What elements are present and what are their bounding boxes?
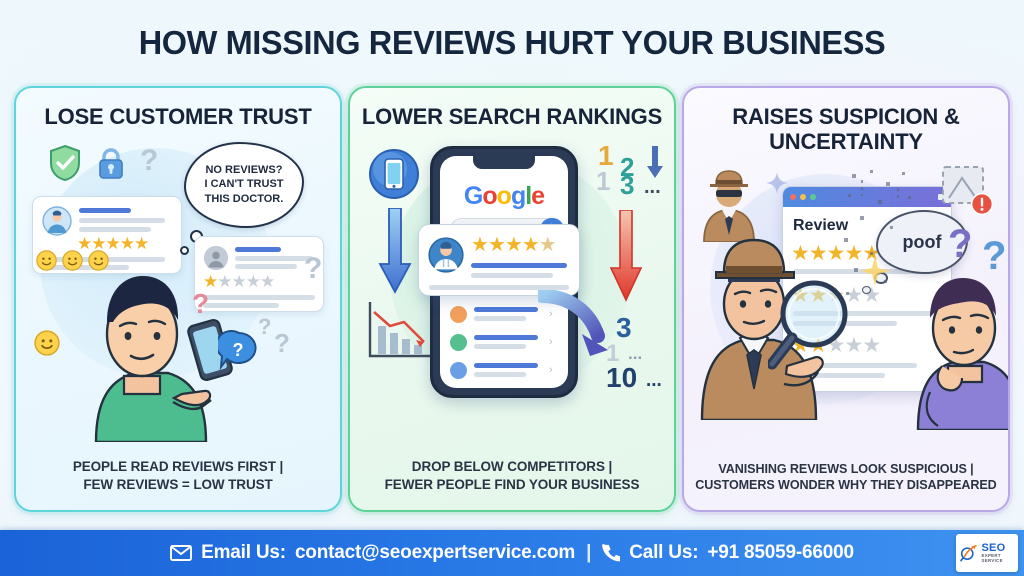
- thought-bubble: NO REVIEWS? I CAN'T TRUST THIS DOCTOR.: [184, 142, 304, 228]
- rank-number-10: 10: [606, 362, 637, 394]
- panel-footer-text: PEOPLE READ REVIEWS FIRST | FEW REVIEWS …: [16, 458, 340, 510]
- google-letter-e: e: [531, 182, 544, 210]
- phone-icon: [602, 544, 620, 562]
- panel-raises-suspicion: RAISES SUSPICION & UNCERTAINTY: [682, 86, 1010, 512]
- rank-ellipsis-mid: ...: [628, 344, 642, 364]
- google-letter-o1: o: [482, 182, 496, 210]
- window-minimize-dot[interactable]: [800, 194, 806, 200]
- contact-info: Email Us: contact@seoexpertservice.com |…: [170, 542, 854, 564]
- google-letter-G: G: [464, 182, 482, 210]
- thought-line-1: NO REVIEWS?: [205, 163, 284, 178]
- panel-footer-line-2: FEWER PEOPLE FIND YOUR BUSINESS: [358, 476, 666, 494]
- panel-lose-customer-trust: LOSE CUSTOMER TRUST ?: [14, 86, 342, 512]
- rank-numbers-top: 1 2 1 3 ...: [596, 140, 676, 206]
- panel-footer-line-2: CUSTOMERS WONDER WHY THEY DISAPPEARED: [692, 477, 1000, 494]
- panel-footer-text: VANISHING REVIEWS LOOK SUSPICIOUS | CUST…: [684, 461, 1008, 510]
- rank-number-3: 3: [620, 170, 634, 201]
- envelope-icon: [170, 545, 192, 561]
- company-logo[interactable]: SEO EXPERT SERVICE: [956, 534, 1018, 572]
- question-mark-bubble-icon: ?: [218, 330, 260, 372]
- email-value[interactable]: contact@seoexpertservice.com: [295, 542, 575, 564]
- panel-illustration: Review ★★★★★ ★★★★★ ★★★★★: [690, 158, 1002, 461]
- panel-lower-search-rankings: LOWER SEARCH RANKINGS: [348, 86, 676, 512]
- question-mark-icon: ?: [140, 146, 158, 176]
- alert-badge-icon: [970, 192, 994, 216]
- red-down-arrow-icon: [608, 210, 644, 302]
- email-label: Email Us:: [201, 542, 286, 564]
- logo-text: SEO EXPERT SERVICE: [982, 543, 1015, 563]
- contact-footer-bar: Email Us: contact@seoexpertservice.com |…: [0, 530, 1024, 576]
- magnifying-glass-icon: [768, 276, 864, 376]
- question-mark-icon: ?: [258, 316, 271, 338]
- rank-numbers-bottom: 3 1 ... 10 ...: [606, 312, 676, 382]
- question-mark-icon: ?: [948, 222, 972, 267]
- question-mark-icon: ?: [304, 254, 322, 284]
- rank-number-1-faded: 1: [596, 166, 610, 197]
- magnifier-arrow-logo-icon: [960, 541, 979, 565]
- thought-line-2: I CAN'T TRUST: [205, 177, 284, 192]
- phone-label: Call Us:: [629, 542, 698, 564]
- panel-illustration: ? ★★★★★: [22, 134, 334, 459]
- declining-chart-icon: [364, 300, 434, 362]
- smiley-face-icon: [34, 330, 60, 356]
- small-down-arrow-icon: [646, 146, 664, 178]
- smiley-face-icon: [36, 250, 57, 271]
- question-mark-icon: ?: [274, 330, 290, 356]
- panel-footer-line-1: PEOPLE READ REVIEWS FIRST |: [24, 458, 332, 476]
- google-wordmark: Google: [464, 182, 544, 211]
- phone-value[interactable]: +91 85059-66000: [707, 542, 854, 564]
- panel-footer-line-1: VANISHING REVIEWS LOOK SUSPICIOUS |: [692, 461, 1000, 478]
- panel-footer-line-2: FEW REVIEWS = LOW TRUST: [24, 476, 332, 494]
- logo-line-2: EXPERT SERVICE: [982, 554, 1015, 563]
- star-rating-4point5of5: ★★★★★: [471, 235, 556, 256]
- panels-row: LOSE CUSTOMER TRUST ?: [14, 86, 1010, 512]
- window-close-dot[interactable]: [790, 194, 796, 200]
- rank-ellipsis-bottom: ...: [646, 370, 662, 392]
- panel-title: LOWER SEARCH RANKINGS: [350, 88, 674, 130]
- panel-footer-line-1: DROP BELOW COMPETITORS |: [358, 458, 666, 476]
- page-title: HOW MISSING REVIEWS HURT YOUR BUSINESS: [8, 0, 1017, 59]
- rank-ellipsis: ...: [644, 176, 661, 199]
- window-maximize-dot[interactable]: [810, 194, 816, 200]
- panel-title: LOSE CUSTOMER TRUST: [16, 88, 340, 130]
- padlock-icon: [96, 146, 126, 182]
- panel-title: RAISES SUSPICION & UNCERTAINTY: [684, 88, 1008, 154]
- doctor-avatar-icon: [428, 237, 464, 273]
- doctor-avatar-icon: [42, 206, 72, 236]
- thinking-person-illustration: [902, 262, 1010, 430]
- google-letter-o2: o: [497, 182, 511, 210]
- phone-notch: [473, 156, 535, 169]
- svg-text:?: ?: [233, 340, 244, 360]
- question-mark-icon: ?: [192, 290, 209, 318]
- google-letter-g: g: [511, 182, 525, 210]
- panel-illustration: Google › ›: [356, 134, 668, 459]
- smartphone-icon: [368, 148, 420, 200]
- down-arrow-icon: [378, 208, 412, 294]
- panel-footer-text: DROP BELOW COMPETITORS | FEWER PEOPLE FI…: [350, 458, 674, 510]
- review-card-floating: ★★★★★: [418, 224, 580, 296]
- footer-separator: |: [584, 542, 593, 564]
- shield-check-icon: [48, 144, 82, 182]
- thought-line-3: THIS DOCTOR.: [205, 192, 284, 207]
